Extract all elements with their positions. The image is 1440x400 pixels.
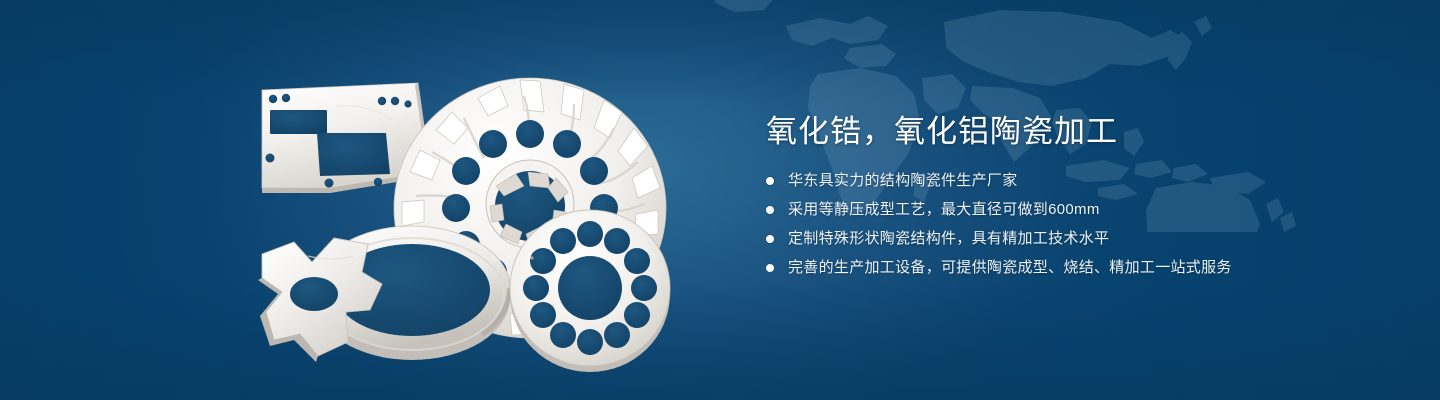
bullet-label: 完善的生产加工设备，可提供陶瓷成型、烧结、精加工一站式服务 [788, 257, 1232, 279]
hero-banner: 氧化锆，氧化铝陶瓷加工 华东具实力的结构陶瓷件生产厂家 采用等静压成型工艺，最大… [0, 0, 1440, 400]
list-item: 华东具实力的结构陶瓷件生产厂家 [766, 170, 1386, 192]
bullet-dot-icon [766, 177, 774, 185]
list-item: 完善的生产加工设备，可提供陶瓷成型、烧结、精加工一站式服务 [766, 257, 1386, 279]
product-perforated-disc [510, 210, 670, 372]
banner-feature-list: 华东具实力的结构陶瓷件生产厂家 采用等静压成型工艺，最大直径可做到600mm 定… [766, 170, 1386, 279]
bullet-dot-icon [766, 264, 774, 272]
product-cross-vane-and-ring [258, 226, 510, 362]
list-item: 定制特殊形状陶瓷结构件，具有精加工技术水平 [766, 228, 1386, 250]
bullet-label: 定制特殊形状陶瓷结构件，具有精加工技术水平 [788, 228, 1109, 250]
bullet-dot-icon [766, 235, 774, 243]
banner-headline: 氧化锆，氧化铝陶瓷加工 [766, 112, 1386, 152]
ceramic-products-image [240, 48, 690, 380]
bullet-label: 华东具实力的结构陶瓷件生产厂家 [788, 170, 1018, 192]
bullet-dot-icon [766, 206, 774, 214]
bullet-label: 采用等静压成型工艺，最大直径可做到600mm [788, 199, 1100, 221]
banner-text-block: 氧化锆，氧化铝陶瓷加工 华东具实力的结构陶瓷件生产厂家 采用等静压成型工艺，最大… [766, 112, 1386, 286]
list-item: 采用等静压成型工艺，最大直径可做到600mm [766, 199, 1386, 221]
